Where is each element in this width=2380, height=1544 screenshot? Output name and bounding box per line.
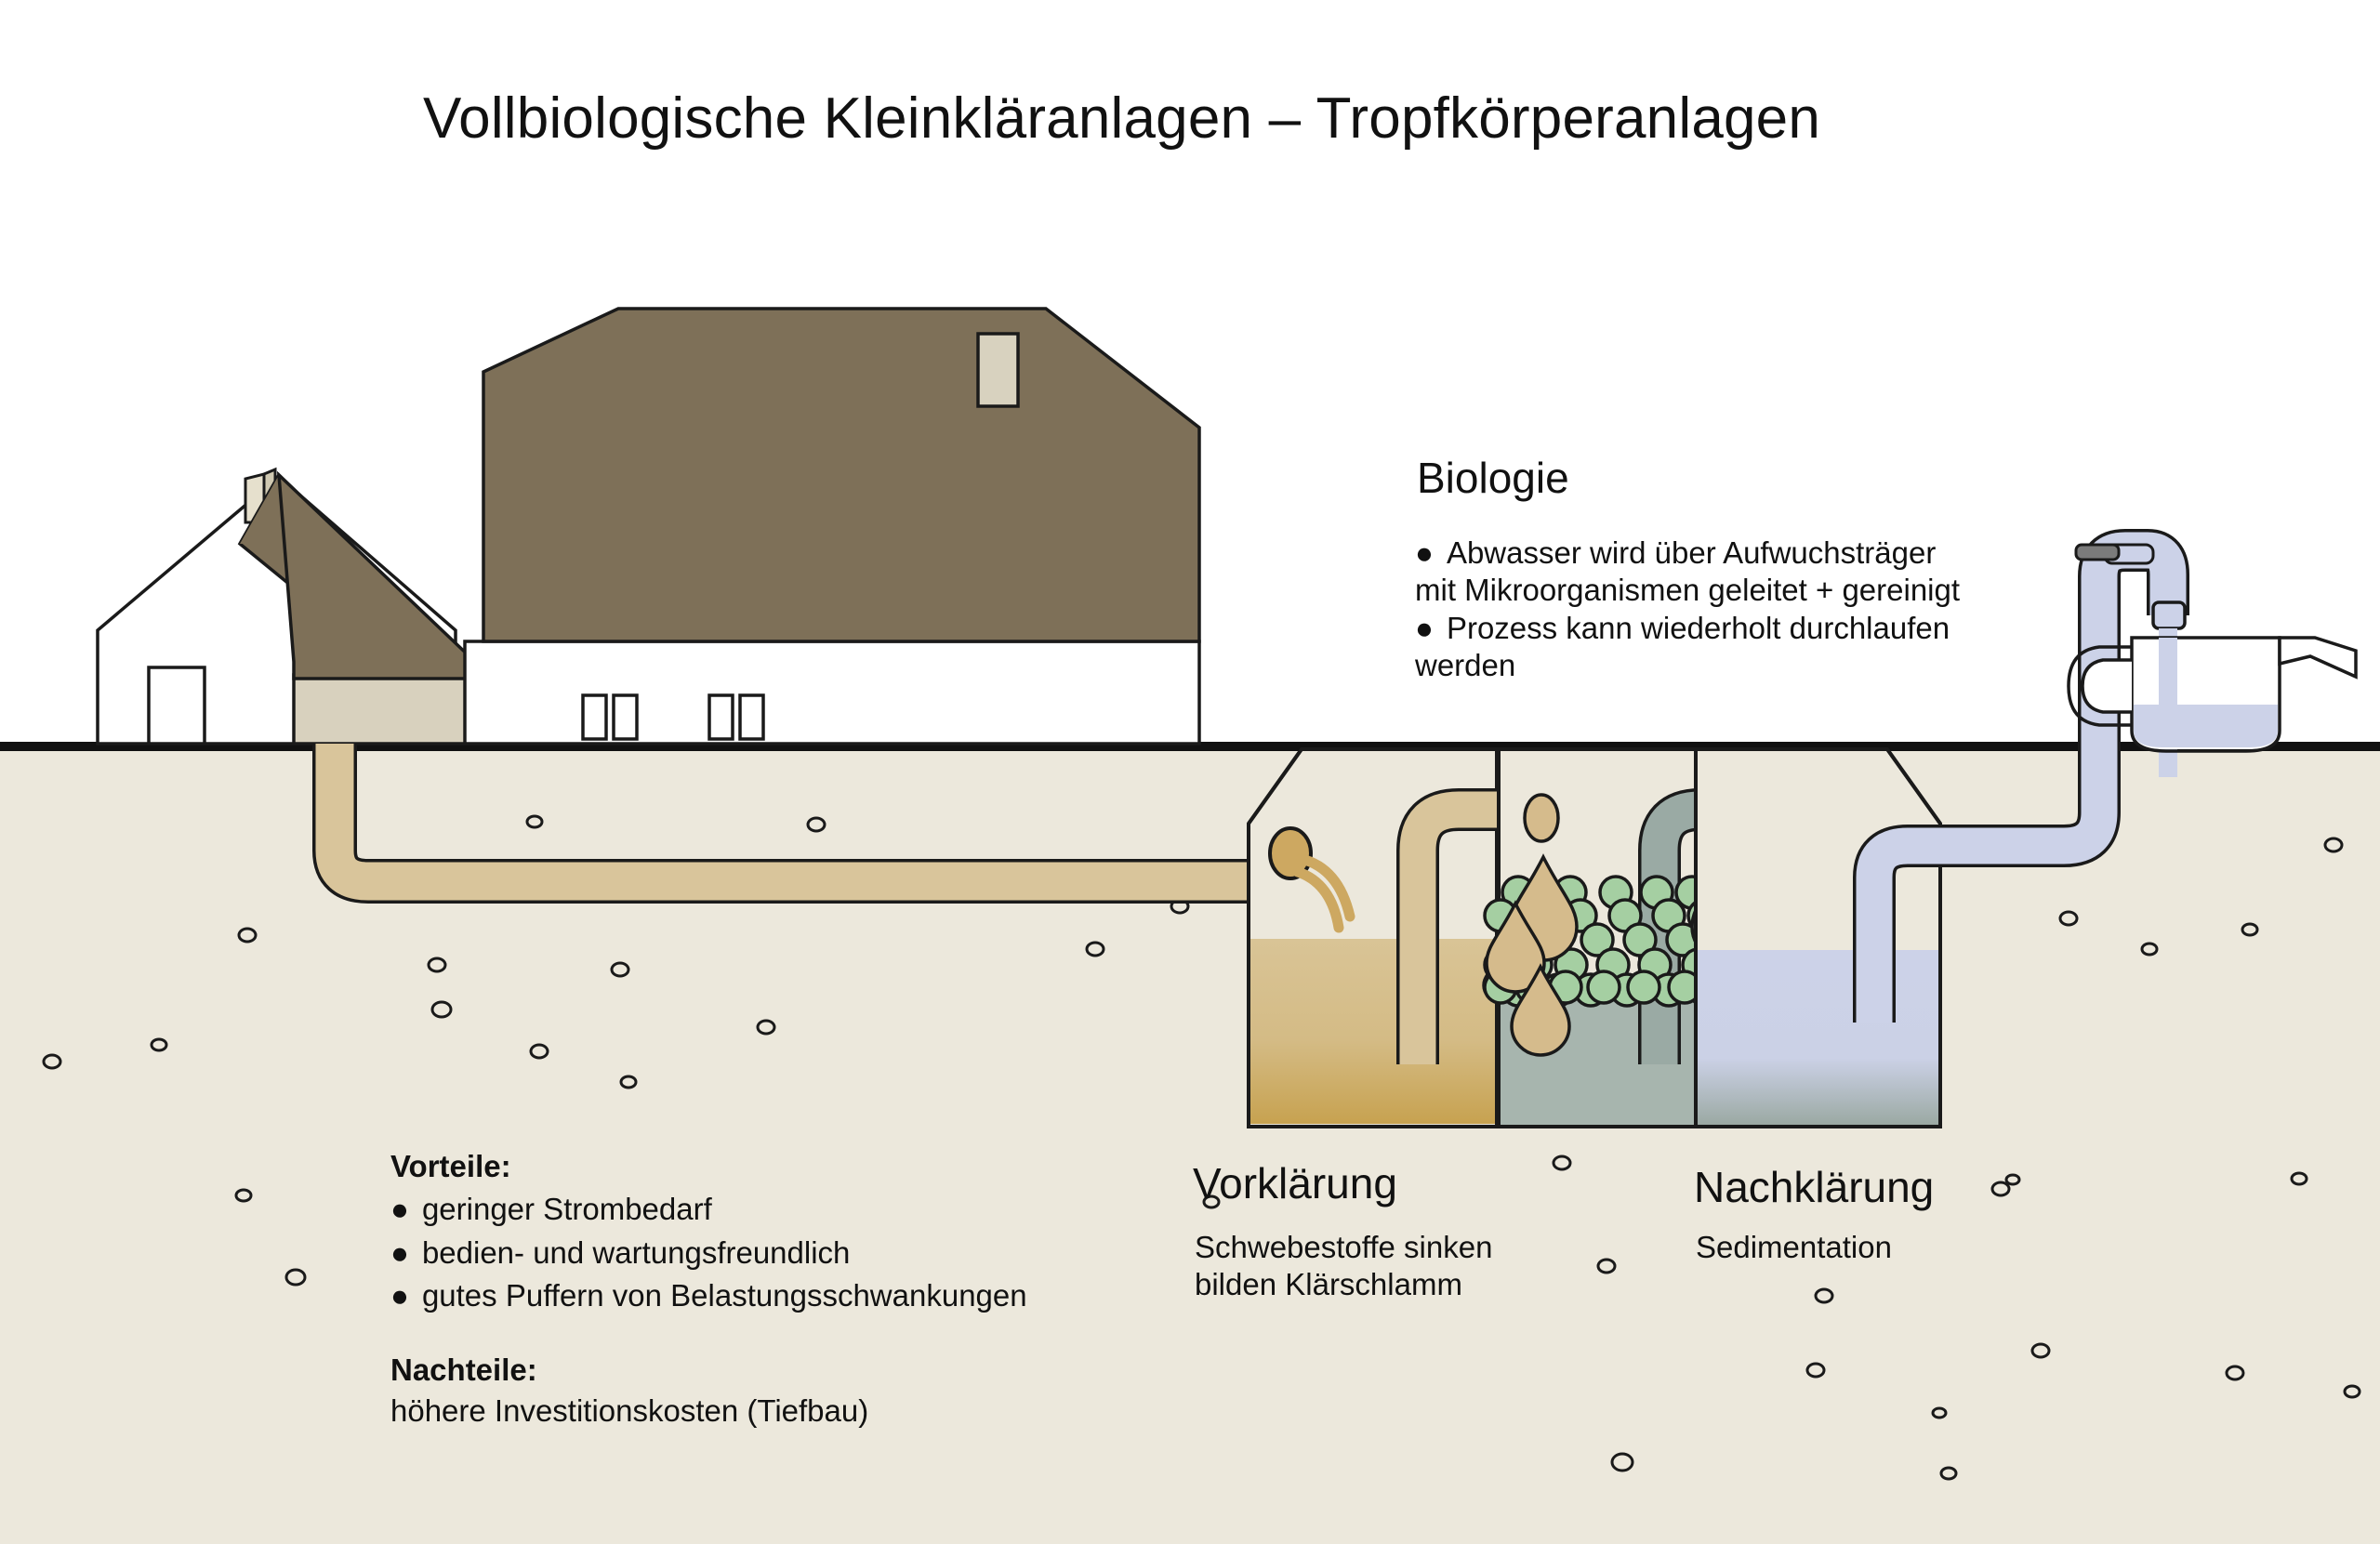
biology-bullets: ● Abwasser wird über Aufwuchsträger mit … — [1415, 534, 2010, 684]
main-house-window — [709, 695, 733, 739]
clean-water — [1698, 950, 1938, 1125]
biology-bullet-2: ● Prozess kann wiederholt durchlaufen — [1415, 610, 2010, 647]
watering-can-spout — [2280, 638, 2356, 677]
pros-heading: Vorteile: — [390, 1148, 1153, 1185]
pros-item: ● geringer Strombedarf — [390, 1191, 1153, 1228]
biology-bullet-2-line-1: Prozess kann wiederholt durchlaufen — [1447, 610, 1950, 647]
roof-window — [978, 334, 1018, 406]
biology-heading: Biologie — [1417, 453, 1569, 503]
pros-item-label: geringer Strombedarf — [422, 1191, 712, 1228]
stage-heading-vorklaerung: Vorklärung — [1193, 1158, 1397, 1208]
main-house-wall — [465, 641, 1199, 744]
bullet-icon: ● — [390, 1277, 409, 1314]
biology-bullet-1-line-1: Abwasser wird über Aufwuchsträger — [1447, 534, 1936, 572]
stage-desc-line: bilden Klärschlamm — [1195, 1266, 1492, 1303]
biology-bullet-1: ● Abwasser wird über Aufwuchsträger — [1415, 534, 2010, 572]
small-house-roof-slope — [279, 475, 493, 679]
stage-desc-line: Sedimentation — [1696, 1229, 1892, 1266]
bullet-icon: ● — [1415, 534, 1434, 572]
small-house-extension — [294, 675, 470, 744]
main-house-window — [583, 695, 606, 739]
bullet-icon: ● — [390, 1234, 409, 1272]
tap-handle — [2076, 545, 2119, 560]
biology-bullet-2-line-2: werden — [1415, 647, 2010, 684]
cons-text: höhere Investitionskosten (Tiefbau) — [390, 1392, 1153, 1430]
main-house — [465, 309, 1199, 744]
stage-desc-line: Schwebestoffe sinken — [1195, 1229, 1492, 1266]
main-house-window — [614, 695, 637, 739]
bullet-icon: ● — [1415, 610, 1434, 647]
bullet-icon: ● — [390, 1191, 409, 1228]
stage-heading-nachklaerung: Nachklärung — [1694, 1162, 1934, 1212]
secondary-settling-chamber — [1696, 749, 1940, 1127]
biology-bullet-1-line-2: mit Mikroorganismen geleitet + gereinigt — [1415, 572, 2010, 609]
page-title: Vollbiologische Kleinkläranlagen – Tropf… — [423, 86, 1820, 152]
stage-desc-vorklaerung: Schwebestoffe sinken bilden Klärschlamm — [1195, 1229, 1492, 1304]
pros-cons-block: Vorteile: ● geringer Strombedarf ● bedie… — [390, 1148, 1153, 1431]
scene-svg — [0, 0, 2380, 1544]
cons-heading: Nachteile: — [390, 1352, 1153, 1389]
stage-desc-nachklaerung: Sedimentation — [1696, 1229, 1892, 1266]
pros-item-label: bedien- und wartungsfreundlich — [422, 1234, 850, 1272]
pros-item: ● bedien- und wartungsfreundlich — [390, 1234, 1153, 1272]
main-house-roof — [483, 309, 1199, 641]
pros-item: ● gutes Puffern von Belastungsschwankung… — [390, 1277, 1153, 1314]
tap-nozzle — [2153, 602, 2185, 628]
pros-item-label: gutes Puffern von Belastungsschwankungen — [422, 1277, 1027, 1314]
main-house-window — [740, 695, 763, 739]
sludge-water — [1250, 939, 1495, 1124]
diagram-canvas: Vollbiologische Kleinkläranlagen – Tropf… — [0, 0, 2380, 1544]
